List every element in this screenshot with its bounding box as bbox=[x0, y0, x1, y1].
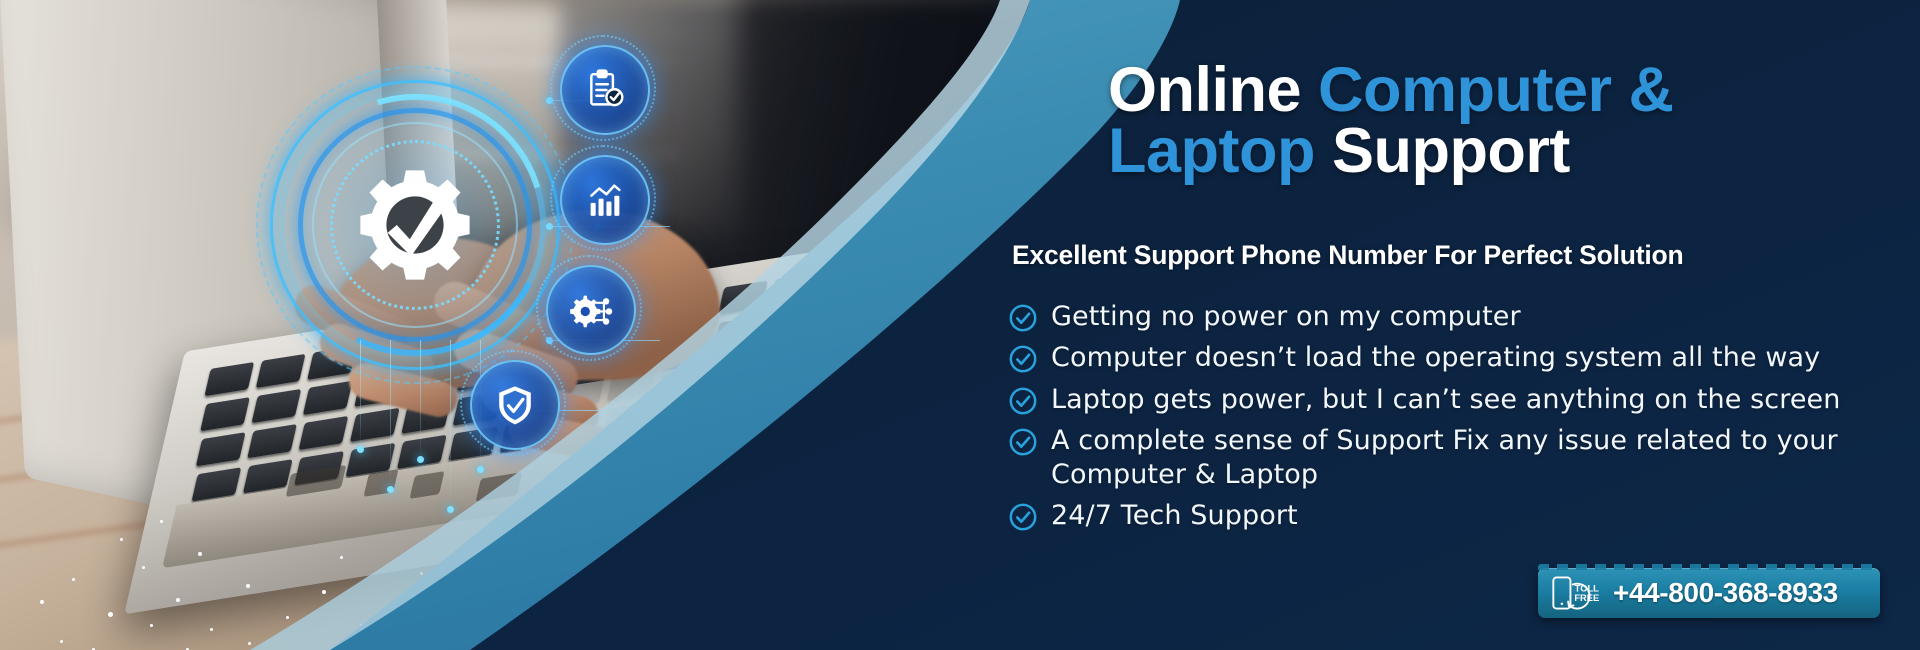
check-circle-icon bbox=[1008, 344, 1038, 374]
headline-line1-white: Online bbox=[1108, 55, 1318, 125]
benefits-list: Getting no power on my computer Computer… bbox=[1008, 300, 1908, 541]
check-circle-icon bbox=[1008, 303, 1038, 333]
toll-free-phone-button[interactable]: TOLL FREE +44-800-368-8933 bbox=[1538, 568, 1880, 618]
badge-top-notch bbox=[1538, 564, 1880, 570]
list-item-label: 24/7 Tech Support bbox=[1051, 499, 1298, 532]
list-item: 24/7 Tech Support bbox=[1008, 499, 1908, 532]
headline-line1-accent: Computer & bbox=[1318, 55, 1674, 125]
text-panel: Online Computer & Laptop Support Excelle… bbox=[980, 0, 1920, 650]
phone-number: +44-800-368-8933 bbox=[1613, 577, 1838, 609]
check-circle-icon bbox=[1008, 427, 1038, 457]
headline-line2-accent: Laptop bbox=[1108, 116, 1332, 186]
list-item: A complete sense of Support Fix any issu… bbox=[1008, 424, 1908, 491]
toll-free-phone-icon: TOLL FREE bbox=[1551, 575, 1607, 611]
check-circle-icon bbox=[1008, 386, 1038, 416]
list-item-label: A complete sense of Support Fix any issu… bbox=[1051, 424, 1851, 491]
check-circle-icon bbox=[1008, 502, 1038, 532]
toll-label-line2: FREE bbox=[1574, 593, 1599, 603]
list-item: Getting no power on my computer bbox=[1008, 300, 1908, 333]
page-title: Online Computer & Laptop Support bbox=[1108, 60, 1868, 182]
list-item-label: Getting no power on my computer bbox=[1051, 300, 1521, 333]
list-item-label: Laptop gets power, but I can’t see anyth… bbox=[1051, 383, 1840, 416]
support-banner: Online Computer & Laptop Support Excelle… bbox=[0, 0, 1920, 650]
list-item: Computer doesn’t load the operating syst… bbox=[1008, 341, 1908, 374]
headline-line2-white: Support bbox=[1332, 116, 1570, 186]
toll-label-line1: TOLL bbox=[1575, 583, 1599, 593]
subheading: Excellent Support Phone Number For Perfe… bbox=[1012, 240, 1912, 271]
list-item: Laptop gets power, but I can’t see anyth… bbox=[1008, 383, 1908, 416]
list-item-label: Computer doesn’t load the operating syst… bbox=[1051, 341, 1820, 374]
